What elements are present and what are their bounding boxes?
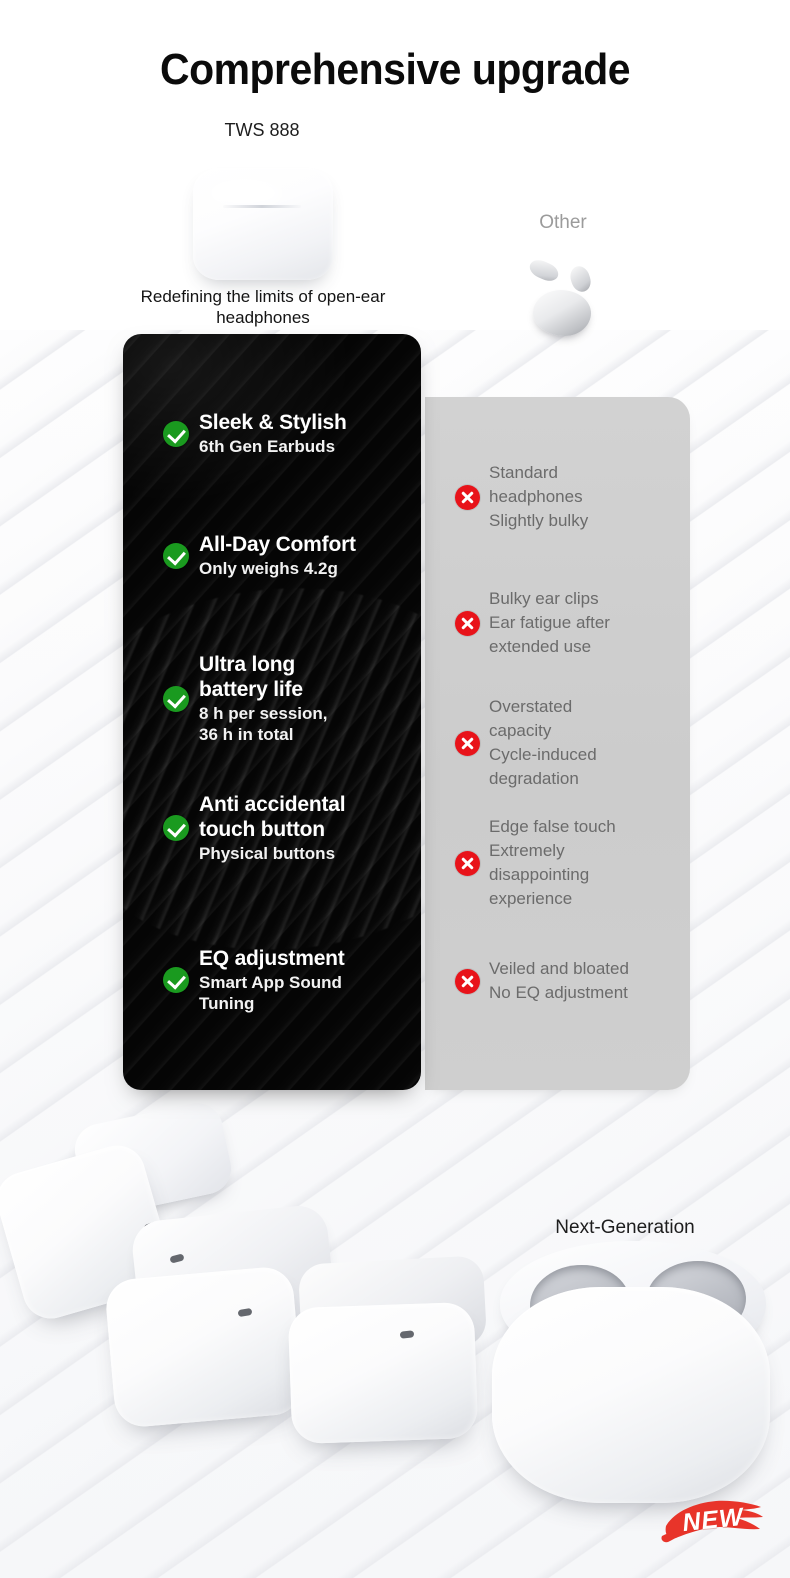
pro-text: All-Day Comfort Only weighs 4.2g (199, 532, 356, 579)
cross-circle-icon (455, 485, 480, 510)
pro-subtitle: 6th Gen Earbuds (199, 436, 347, 457)
page-title: Comprehensive upgrade (28, 45, 763, 95)
cross-circle-icon (455, 731, 480, 756)
con-row: Veiled and bloated No EQ adjustment (455, 957, 690, 1005)
con-text: Edge false touch Extremely disappointing… (489, 815, 616, 911)
tagline: Redefining the limits of open-ear headph… (118, 286, 408, 328)
product-label-other: Other (463, 212, 663, 234)
pro-text: Sleek & Stylish 6th Gen Earbuds (199, 410, 347, 457)
other-earbuds-image (515, 258, 611, 336)
pro-row: Sleek & Stylish 6th Gen Earbuds (163, 410, 413, 457)
pro-row: Ultra long battery life 8 h per session,… (163, 652, 413, 745)
next-generation-label: Next-Generation (500, 1217, 750, 1239)
pro-row: All-Day Comfort Only weighs 4.2g (163, 532, 413, 579)
cross-circle-icon (455, 969, 480, 994)
con-text: Overstated capacity Cycle-induced degrad… (489, 695, 597, 791)
cross-circle-icon (455, 851, 480, 876)
case-3-body (288, 1302, 479, 1444)
con-row: Standard headphones Slightly bulky (455, 461, 690, 533)
case-2-body (104, 1265, 304, 1429)
check-circle-icon (163, 815, 189, 841)
tws888-case-image (193, 168, 333, 280)
pro-text: EQ adjustment Smart App Sound Tuning (199, 946, 345, 1014)
cross-circle-icon (455, 611, 480, 636)
con-text: Standard headphones Slightly bulky (489, 461, 588, 533)
con-row: Edge false touch Extremely disappointing… (455, 815, 690, 911)
next-gen-case-body (492, 1287, 770, 1503)
pro-title: Ultra long battery life (199, 653, 303, 701)
other-earbud-left (527, 257, 561, 285)
pro-title: Anti accidental touch button (199, 793, 345, 841)
con-text: Bulky ear clips Ear fatigue after extend… (489, 587, 610, 659)
new-badge-text: NEW (657, 1487, 768, 1554)
pro-title: All-Day Comfort (199, 533, 356, 556)
pro-subtitle: Only weighs 4.2g (199, 558, 356, 579)
other-earbud-right (567, 264, 593, 295)
check-circle-icon (163, 421, 189, 447)
check-circle-icon (163, 686, 189, 712)
other-case-body (533, 290, 591, 336)
pro-subtitle: Physical buttons (199, 843, 345, 864)
con-row: Bulky ear clips Ear fatigue after extend… (455, 587, 690, 659)
new-badge: NEW (660, 1492, 766, 1548)
pro-text: Ultra long battery life 8 h per session,… (199, 652, 328, 745)
pros-panel: Sleek & Stylish 6th Gen Earbuds All-Day … (123, 334, 421, 1090)
check-circle-icon (163, 543, 189, 569)
cons-panel: Standard headphones Slightly bulky Bulky… (425, 397, 690, 1090)
pro-row: Anti accidental touch button Physical bu… (163, 792, 413, 864)
con-row: Overstated capacity Cycle-induced degrad… (455, 695, 690, 791)
pros-list: Sleek & Stylish 6th Gen Earbuds All-Day … (123, 334, 421, 1090)
pro-title: EQ adjustment (199, 947, 345, 970)
product-label-tws888: TWS 888 (162, 120, 362, 141)
pro-title: Sleek & Stylish (199, 411, 347, 434)
check-circle-icon (163, 967, 189, 993)
con-text: Veiled and bloated No EQ adjustment (489, 957, 629, 1005)
pro-subtitle: 8 h per session, 36 h in total (199, 703, 328, 745)
cons-list: Standard headphones Slightly bulky Bulky… (425, 397, 690, 1090)
pro-subtitle: Smart App Sound Tuning (199, 972, 345, 1014)
pro-row: EQ adjustment Smart App Sound Tuning (163, 946, 413, 1014)
pro-text: Anti accidental touch button Physical bu… (199, 792, 345, 864)
